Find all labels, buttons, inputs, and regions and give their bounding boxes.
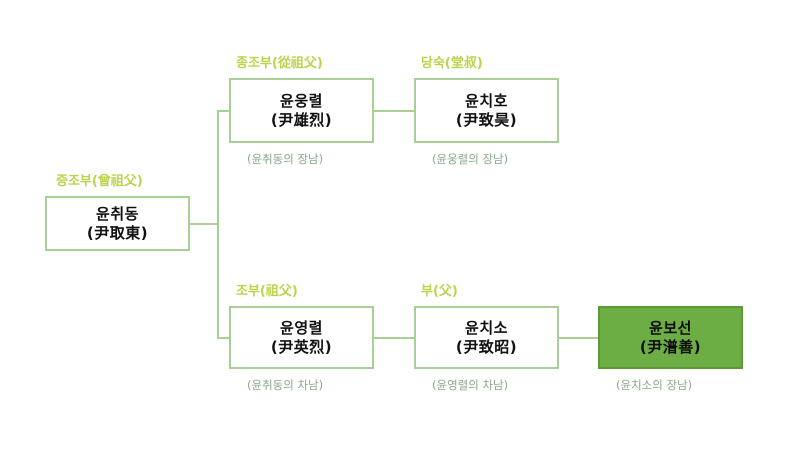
connector-grandfather-to-father: [373, 337, 414, 339]
connector-greatgrandfather-stub: [190, 223, 219, 225]
node-name-hanja: (尹致昊): [456, 111, 517, 129]
node-father[interactable]: 윤치소 (尹致昭): [414, 306, 559, 369]
node-name-ko: 윤치소: [465, 319, 508, 337]
relation-label-granduncle: 종조부(從祖父): [236, 52, 323, 71]
connector-trunk-vertical: [217, 110, 219, 339]
connector-father-to-subject: [558, 337, 598, 339]
relation-label-father: 부(父): [421, 280, 458, 299]
node-name-ko: 윤보선: [649, 319, 692, 337]
node-name-ko: 윤영렬: [280, 319, 323, 337]
node-name-ko: 윤웅렬: [280, 92, 323, 110]
node-name-ko: 윤취동: [96, 205, 139, 223]
caption-grandfather: (윤취동의 차남): [247, 377, 323, 393]
node-fathers-cousin[interactable]: 윤치호 (尹致昊): [414, 78, 559, 143]
relation-label-great-grandfather: 증조부(曾祖父): [56, 170, 143, 189]
caption-father: (윤영렬의 차남): [432, 377, 508, 393]
node-name-hanja: (尹潽善): [640, 338, 701, 356]
node-name-hanja: (尹英烈): [271, 338, 332, 356]
caption-granduncle: (윤취동의 장남): [247, 151, 323, 167]
relation-label-fathers-cousin: 당숙(堂叔): [421, 52, 483, 71]
node-name-ko: 윤치호: [465, 92, 508, 110]
node-name-hanja: (尹取東): [87, 224, 148, 242]
connector-granduncle-to-cousin: [373, 110, 414, 112]
node-great-grandfather[interactable]: 윤취동 (尹取東): [45, 196, 190, 251]
node-granduncle[interactable]: 윤웅렬 (尹雄烈): [229, 78, 374, 143]
node-name-hanja: (尹致昭): [456, 338, 517, 356]
relation-label-grandfather: 조부(祖父): [236, 280, 298, 299]
family-tree-diagram: 증조부(曾祖父) 윤취동 (尹取東) 종조부(從祖父) 윤웅렬 (尹雄烈) (윤…: [0, 0, 800, 450]
caption-fathers-cousin: (윤웅렬의 장남): [432, 151, 508, 167]
node-subject[interactable]: 윤보선 (尹潽善): [598, 306, 743, 369]
node-name-hanja: (尹雄烈): [271, 111, 332, 129]
caption-subject: (윤치소의 장남): [616, 377, 692, 393]
node-grandfather[interactable]: 윤영렬 (尹英烈): [229, 306, 374, 369]
